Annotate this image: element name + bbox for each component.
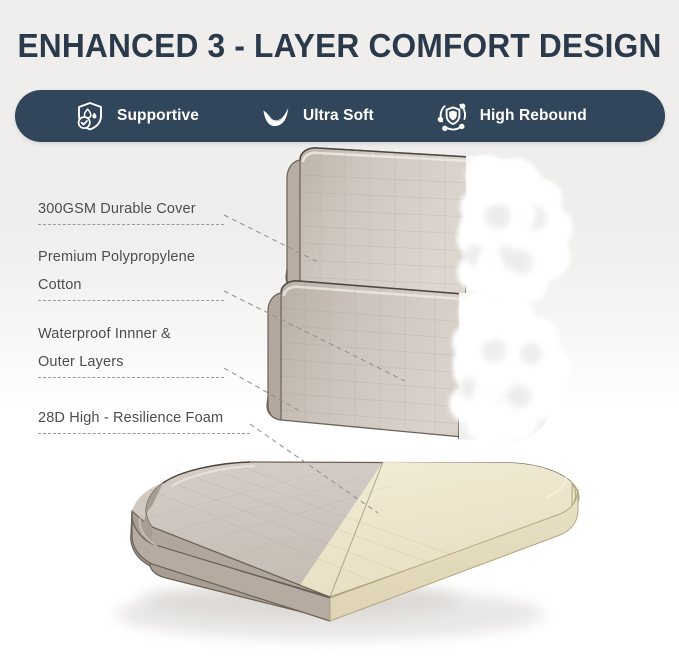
callout-waterproof-layers: Waterproof Innner & Outer Layers (38, 320, 224, 378)
callout-28d-high-resilience-foam: 28D High - Resilience Foam (38, 404, 250, 434)
callout-text-line: 300GSM Durable Cover (38, 195, 224, 223)
callout-underline (38, 433, 250, 434)
middle-cushion-cotton-fill (449, 292, 571, 445)
callout-underline (38, 300, 224, 301)
callout-text-line: Cotton (38, 271, 224, 299)
callout-text-line: 28D High - Resilience Foam (38, 404, 250, 432)
callout-text-line: Premium Polypropylene (38, 243, 224, 271)
callout-underline (38, 377, 224, 378)
infographic-canvas: ENHANCED 3 - LAYER COMFORT DESIGN Suppor… (0, 0, 679, 660)
callout-text-line: Outer Layers (38, 348, 224, 376)
callout-underline (38, 224, 224, 225)
backrest-cushion (286, 148, 470, 302)
middle-cushion (267, 281, 463, 439)
backrest-cotton-fill (457, 155, 573, 311)
callout-300gsm-durable-cover: 300GSM Durable Cover (38, 195, 224, 225)
callout-premium-polypropylene-cotton: Premium Polypropylene Cotton (38, 243, 224, 301)
callout-text-line: Waterproof Innner & (38, 320, 224, 348)
